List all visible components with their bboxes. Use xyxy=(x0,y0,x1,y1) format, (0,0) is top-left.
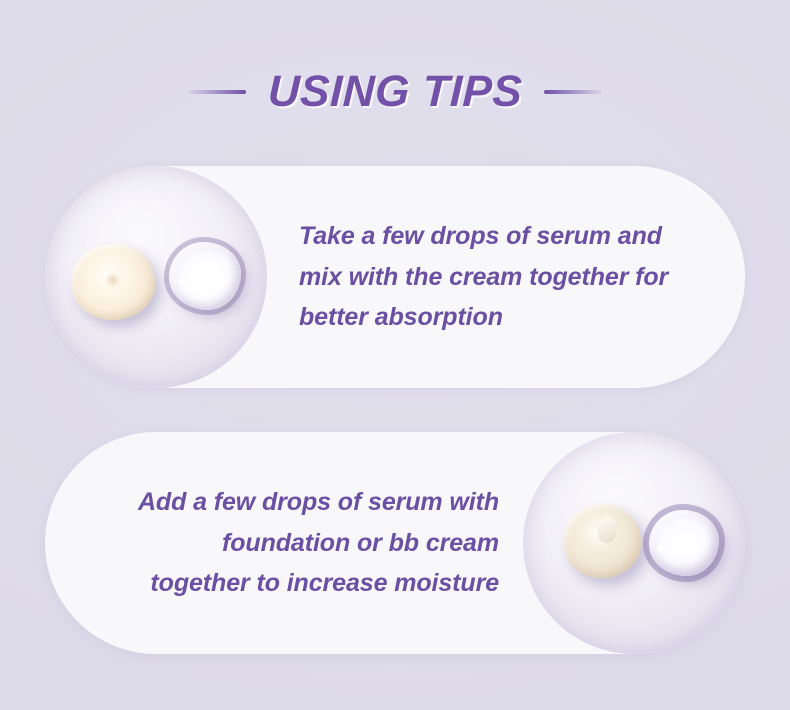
tip-text-line: mix with the cream together for xyxy=(299,257,699,298)
tip-card-serum-with-cream: Take a few drops of serum and mix with t… xyxy=(45,166,745,388)
title-dash-right-icon xyxy=(544,90,602,94)
foundation-dollop xyxy=(563,504,641,578)
tip-card-serum-with-foundation: Add a few drops of serum with foundation… xyxy=(45,432,745,654)
serum-and-foundation-photo xyxy=(523,432,745,654)
serum-droplet xyxy=(649,510,719,576)
droplet-highlight-icon xyxy=(657,546,664,552)
droplet-highlight-icon xyxy=(178,279,185,285)
page-title-row: USING TIPS xyxy=(0,62,790,122)
tip-text-serum-with-foundation: Add a few drops of serum with foundation… xyxy=(45,482,523,604)
page-title: USING TIPS xyxy=(267,67,523,117)
tip-text-line: Add a few drops of serum with xyxy=(89,482,499,523)
tip-text-line: better absorption xyxy=(299,297,699,338)
tip-text-line: Take a few drops of serum and xyxy=(299,216,699,257)
using-tips-page: USING TIPS Take a few drops of serum and… xyxy=(0,0,790,710)
serum-droplet xyxy=(169,242,241,310)
tip-text-line: together to increase moisture xyxy=(89,563,499,604)
tip-text-serum-with-cream: Take a few drops of serum and mix with t… xyxy=(267,216,745,338)
tip-text-line: foundation or bb cream xyxy=(89,523,499,564)
title-dash-left-icon xyxy=(188,90,246,94)
cream-dollop xyxy=(71,244,155,320)
serum-and-cream-photo xyxy=(45,166,267,388)
